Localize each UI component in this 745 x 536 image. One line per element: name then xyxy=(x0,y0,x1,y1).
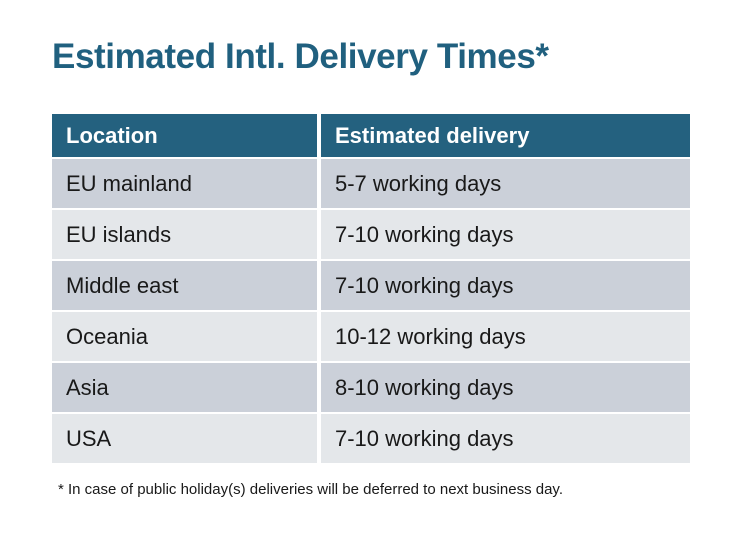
cell-location: Asia xyxy=(52,363,317,412)
table-row: EU islands 7-10 working days xyxy=(52,210,690,259)
cell-location: EU islands xyxy=(52,210,317,259)
cell-estimated-delivery: 8-10 working days xyxy=(321,363,690,412)
table-row: Middle east 7-10 working days xyxy=(52,261,690,310)
cell-estimated-delivery: 7-10 working days xyxy=(321,414,690,463)
table-row: Oceania 10-12 working days xyxy=(52,312,690,361)
cell-estimated-delivery: 7-10 working days xyxy=(321,261,690,310)
cell-location: EU mainland xyxy=(52,159,317,208)
footnote: * In case of public holiday(s) deliverie… xyxy=(58,480,563,500)
cell-estimated-delivery: 10-12 working days xyxy=(321,312,690,361)
table-header-row: Location Estimated delivery xyxy=(52,114,690,157)
delivery-times-table: Location Estimated delivery EU mainland … xyxy=(52,114,690,463)
cell-location: USA xyxy=(52,414,317,463)
table-row: USA 7-10 working days xyxy=(52,414,690,463)
cell-estimated-delivery: 7-10 working days xyxy=(321,210,690,259)
table-row: EU mainland 5-7 working days xyxy=(52,159,690,208)
cell-estimated-delivery: 5-7 working days xyxy=(321,159,690,208)
page-title: Estimated Intl. Delivery Times* xyxy=(52,36,549,78)
column-header-estimated-delivery: Estimated delivery xyxy=(321,114,690,157)
column-header-location: Location xyxy=(52,114,317,157)
delivery-times-page: Estimated Intl. Delivery Times* Location… xyxy=(0,0,745,536)
table-row: Asia 8-10 working days xyxy=(52,363,690,412)
cell-location: Oceania xyxy=(52,312,317,361)
cell-location: Middle east xyxy=(52,261,317,310)
